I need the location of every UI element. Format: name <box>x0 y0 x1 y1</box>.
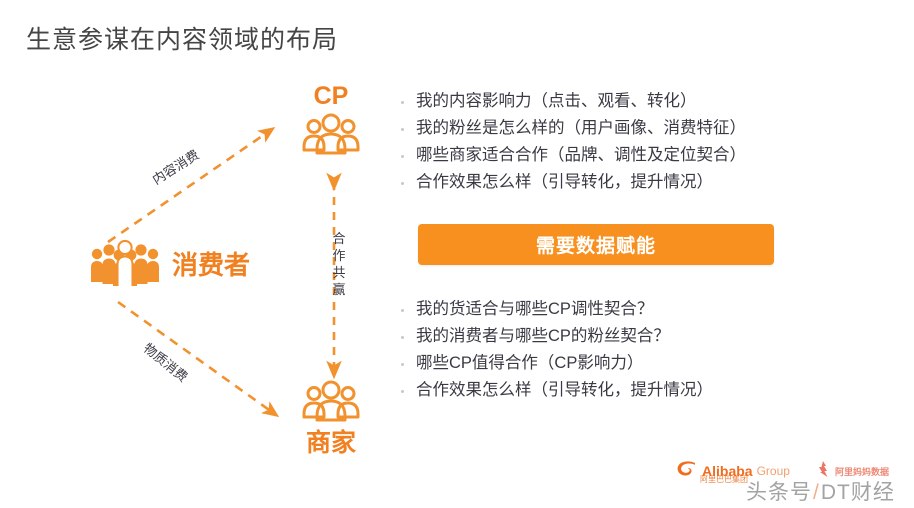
people-group-icon <box>300 113 362 157</box>
list-item: 哪些CP值得合作（CP影响力） <box>398 350 898 377</box>
merchant-questions-wrapper: 我的货适合与哪些CP调性契合？ 我的消费者与哪些CP的粉丝契合？ 哪些CP值得合… <box>398 296 898 404</box>
slide-canvas: 生意参谋在内容领域的布局 <box>0 0 914 508</box>
node-cp-label: CP <box>286 84 376 109</box>
right-content-column: 我的内容影响力（点击、观看、转化） 我的粉丝是怎么样的（用户画像、消费特征） 哪… <box>398 88 898 404</box>
list-item: 哪些商家适合合作（品牌、调性及定位契合） <box>398 142 898 169</box>
relationship-diagram: 内容消费 物质消费 合作共赢 CP <box>0 70 400 490</box>
crowd-icon <box>88 238 162 288</box>
watermark: 头条号/DT财经 <box>746 476 895 506</box>
data-empowerment-banner[interactable]: 需要数据赋能 <box>418 224 774 265</box>
watermark-suffix: DT财经 <box>821 481 895 504</box>
edge-label-cooperation-winwin: 合作共赢 <box>331 230 347 298</box>
list-item: 合作效果怎么样（引导转化，提升情况） <box>398 169 898 196</box>
diagram-node-merchant[interactable]: 商家 <box>286 380 376 456</box>
list-item: 我的消费者与哪些CP的粉丝契合？ <box>398 323 898 350</box>
diagram-node-consumer[interactable]: 消费者 <box>88 238 278 288</box>
merchant-questions-list: 我的货适合与哪些CP调性契合？ 我的消费者与哪些CP的粉丝契合？ 哪些CP值得合… <box>398 296 898 404</box>
node-consumer-label: 消费者 <box>172 245 250 282</box>
banner-label: 需要数据赋能 <box>536 231 656 258</box>
list-item: 我的粉丝是怎么样的（用户画像、消费特征） <box>398 115 898 142</box>
watermark-separator: / <box>813 481 820 504</box>
edge-consumer-to-merchant <box>118 302 272 412</box>
people-group-icon <box>300 380 362 424</box>
node-merchant-label: 商家 <box>286 431 376 456</box>
list-item: 我的内容影响力（点击、观看、转化） <box>398 88 898 115</box>
alibaba-mark-icon <box>676 460 698 482</box>
watermark-prefix: 头条号 <box>746 481 812 504</box>
alibaba-chinese-name: 阿里巴巴集团 <box>700 474 748 485</box>
diagram-node-cp[interactable]: CP <box>286 84 376 162</box>
page-title: 生意参谋在内容领域的布局 <box>26 20 338 56</box>
list-item: 合作效果怎么样（引导转化，提升情况） <box>398 377 898 404</box>
list-item: 我的货适合与哪些CP调性契合？ <box>398 296 898 323</box>
cp-questions-list: 我的内容影响力（点击、观看、转化） 我的粉丝是怎么样的（用户画像、消费特征） 哪… <box>398 88 898 196</box>
